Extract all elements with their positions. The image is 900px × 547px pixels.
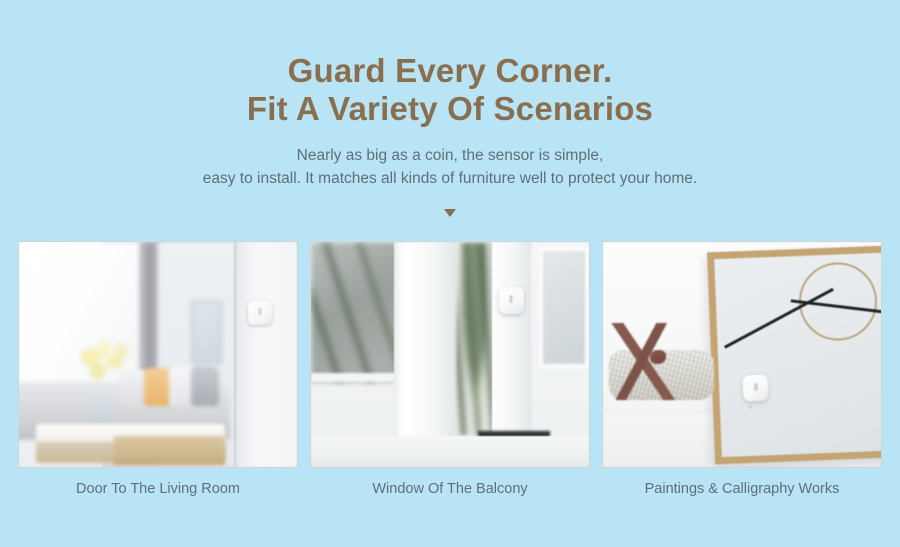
- open-window-gap: [456, 242, 495, 436]
- balcony-window-scene: [311, 242, 589, 467]
- page-title-line-2: Fit A Variety Of Scenarios: [0, 90, 900, 128]
- pillow-yellow: [144, 368, 172, 406]
- caption-paintings: Paintings & Calligraphy Works: [602, 479, 882, 499]
- window-sash-right: [492, 242, 531, 451]
- vase: [91, 386, 110, 422]
- glass-pane-right: [539, 247, 589, 369]
- paintings-scene: [603, 242, 881, 467]
- living-room-scene: [19, 242, 297, 467]
- bamboo-plants-outside: [456, 242, 495, 436]
- door-sensor-device: [248, 301, 272, 325]
- page-subtitle-line-1: Nearly as big as a coin, the sensor is s…: [0, 144, 900, 167]
- page-title: Guard Every Corner. Fit A Variety Of Sce…: [0, 0, 900, 128]
- scenario-image-balcony-window: [310, 241, 590, 468]
- scenario-gallery: [18, 241, 882, 468]
- caption-living-room: Door To The Living Room: [18, 479, 298, 499]
- pillow-gray: [191, 366, 219, 407]
- coffee-table-wood: [114, 436, 225, 465]
- chevron-down-icon: [444, 209, 456, 217]
- window-sill: [311, 436, 589, 468]
- scenario-image-living-room: [18, 241, 298, 468]
- promo-page: Guard Every Corner. Fit A Variety Of Sce…: [0, 0, 900, 547]
- leather-strap: [611, 323, 678, 400]
- chevron-down-container: [0, 204, 900, 218]
- caption-balcony-window: Window Of The Balcony: [310, 479, 590, 499]
- page-title-line-1: Guard Every Corner.: [0, 52, 900, 90]
- page-subtitle: Nearly as big as a coin, the sensor is s…: [0, 144, 900, 190]
- painting-sensor-device: [743, 374, 769, 401]
- gold-picture-frame: [707, 245, 882, 463]
- door-panel: [234, 242, 297, 467]
- scenario-image-paintings: [602, 241, 882, 468]
- window-mullion: [403, 242, 456, 467]
- bamboo-behind-glass: [311, 242, 406, 382]
- window-sensor-device: [499, 287, 524, 314]
- wall-picture-frame: [191, 301, 222, 364]
- page-subtitle-line-2: easy to install. It matches all kinds of…: [0, 167, 900, 190]
- scenario-captions: Door To The Living Room Window Of The Ba…: [18, 479, 882, 499]
